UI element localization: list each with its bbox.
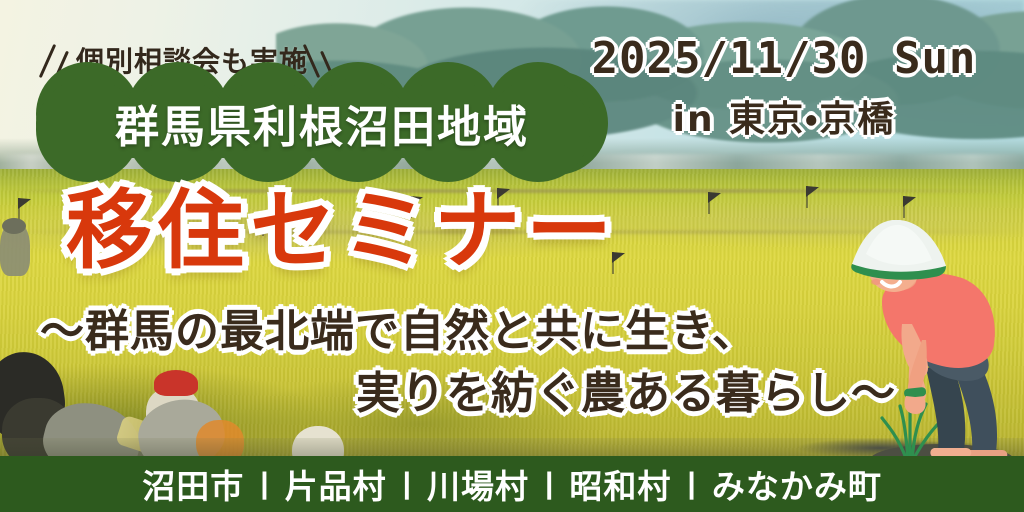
field-flag-icon: [18, 198, 20, 220]
separator: |: [403, 469, 411, 499]
municipality-item[interactable]: 川場村: [411, 460, 545, 508]
farmer-harvesting-icon: [846, 220, 1024, 470]
farm-worker-red-cap: [154, 370, 198, 396]
municipality-item[interactable]: 片品村: [269, 460, 403, 508]
poster-title: 移住セミナー: [66, 188, 618, 274]
municipality-item[interactable]: みなかみ町: [696, 460, 898, 508]
farm-worker-hat: [2, 218, 26, 234]
region-badge-label: 群馬県利根沼田地域: [42, 80, 602, 166]
municipality-item[interactable]: 沼田市: [126, 460, 260, 508]
municipality-bar: 沼田市 | 片品村 | 川場村 | 昭和村 | みなかみ町: [0, 456, 1024, 512]
event-poster: 個別相談会も実施 群馬県利根沼田地域 2025/11/30 Sun in 東京・…: [0, 0, 1024, 512]
poster-subtitle-line2: 実りを紡ぐ農ある暮らし～: [356, 372, 896, 416]
event-date: 2025/11/30 Sun: [584, 36, 984, 82]
field-flag-icon: [806, 186, 808, 208]
municipality-item[interactable]: 昭和村: [553, 460, 687, 508]
separator: |: [687, 469, 695, 499]
field-flag-icon: [708, 192, 710, 214]
separator: |: [545, 469, 553, 499]
region-badge: 群馬県利根沼田地域: [42, 80, 602, 166]
event-place: in 東京・京橋: [584, 90, 984, 142]
field-flag-icon: [903, 196, 905, 218]
separator: |: [260, 469, 268, 499]
poster-subtitle-line1: ～群馬の最北端で自然と共に生き、: [40, 310, 757, 354]
event-datetime-block: 2025/11/30 Sun in 東京・京橋: [584, 36, 984, 142]
